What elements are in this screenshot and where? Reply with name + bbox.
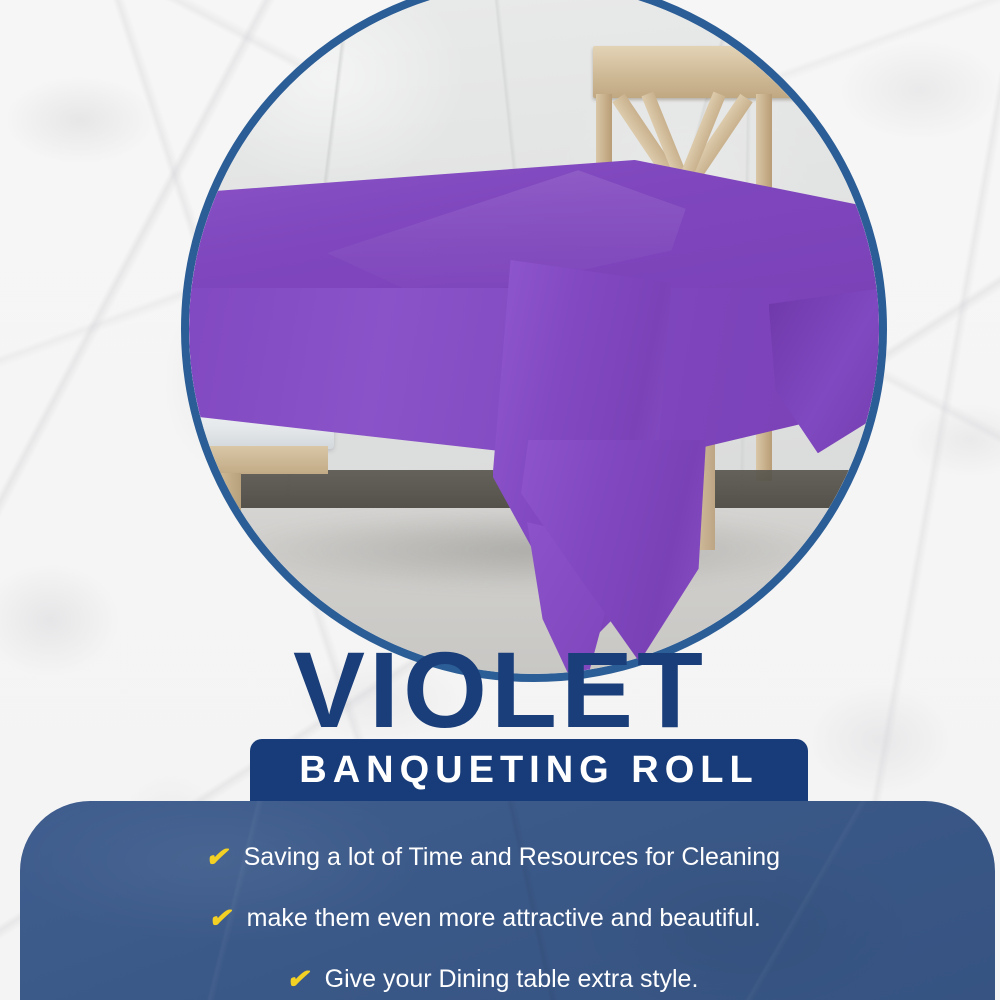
check-icon: ✔ (205, 844, 228, 871)
subtitle-badge-label: BANQUETING ROLL (299, 749, 758, 792)
product-poster: VIOLET BANQUETING ROLL ✔ Saving a lot of… (0, 0, 1000, 1000)
feature-panel: ✔ Saving a lot of Time and Resources for… (20, 801, 995, 1000)
tablecloth-right-corner (769, 288, 879, 454)
feature-text: Saving a lot of Time and Resources for C… (244, 843, 780, 872)
feature-text: make them even more attractive and beaut… (247, 904, 761, 933)
product-photo-circle (181, 0, 887, 682)
feature-item: ✔ Give your Dining table extra style. (286, 965, 995, 994)
subtitle-badge: BANQUETING ROLL (250, 739, 808, 801)
check-icon: ✔ (208, 905, 231, 932)
feature-text: Give your Dining table extra style. (325, 965, 699, 994)
product-photo-inner (189, 0, 879, 674)
feature-item: ✔ make them even more attractive and bea… (208, 904, 995, 933)
feature-item: ✔ Saving a lot of Time and Resources for… (205, 843, 995, 872)
page-title: VIOLET (0, 636, 1000, 744)
violet-tablecloth (189, 0, 879, 674)
check-icon: ✔ (286, 966, 309, 993)
